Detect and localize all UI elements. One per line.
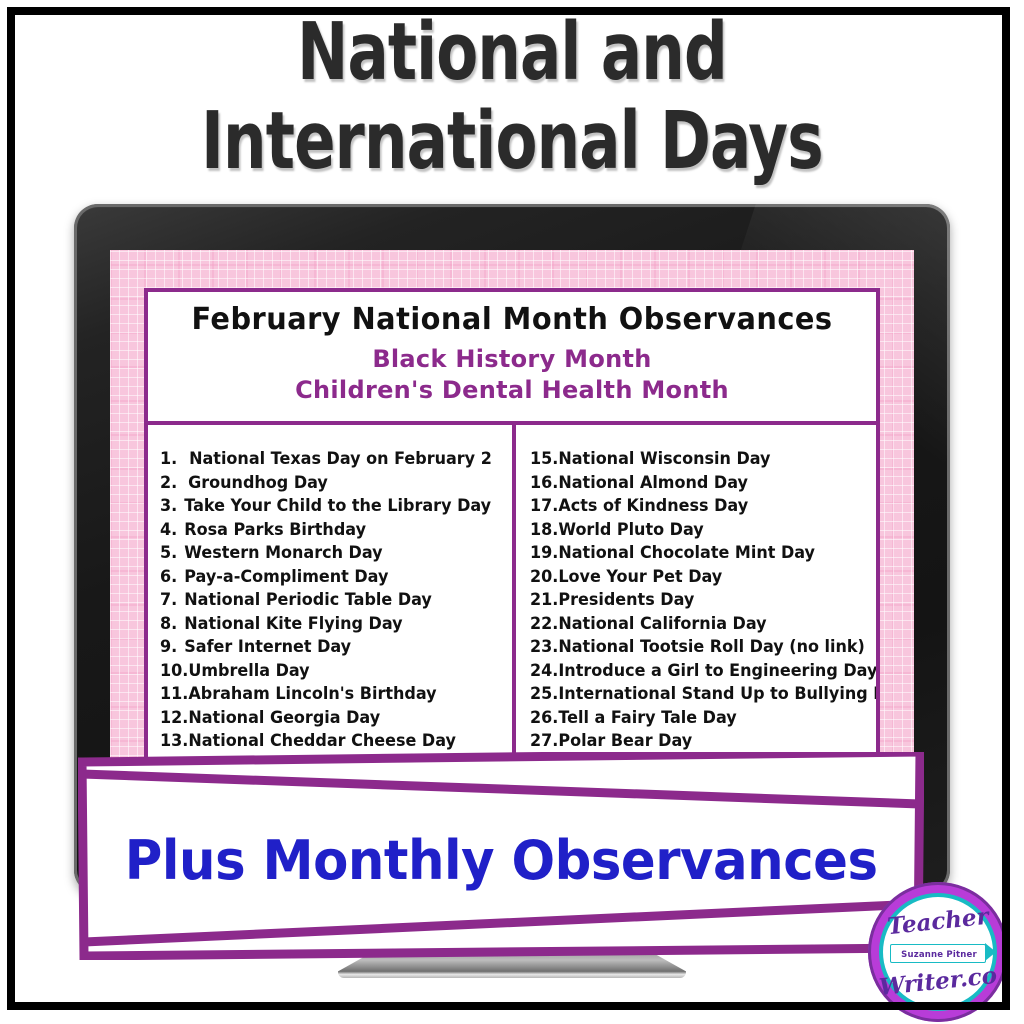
list-item-label: National Georgia Day xyxy=(188,708,380,727)
list-item-label: National Almond Day xyxy=(558,473,748,492)
poster-canvas: National and International Days February… xyxy=(0,0,1024,1024)
list-item-label: National Texas Day on February 2 xyxy=(189,449,492,468)
list-item-label: Groundhog Day xyxy=(188,473,328,492)
month-observance-2: Children's Dental Health Month xyxy=(148,376,876,404)
list-item-label: National Tootsie Roll Day (no link) xyxy=(558,637,865,656)
observance-list-right: 15.National Wisconsin Day16.National Alm… xyxy=(512,425,880,793)
list-item-label: Safer Internet Day xyxy=(184,637,351,656)
banner-label: Plus Monthly Observances xyxy=(125,829,878,892)
list-item-label: International Stand Up to Bullying Day xyxy=(558,684,880,703)
list-item-number: 20. xyxy=(530,565,558,589)
title-line-2: International Days xyxy=(106,103,918,180)
list-item-label: Tell a Fairy Tale Day xyxy=(558,708,736,727)
list-item-number: 3. xyxy=(160,494,184,518)
list-item: 2.Groundhog Day xyxy=(160,471,501,495)
list-item-label: Presidents Day xyxy=(558,590,694,609)
list-item: 8.National Kite Flying Day xyxy=(160,612,501,636)
list-item-number: 23. xyxy=(530,635,558,659)
list-item-number: 4. xyxy=(160,518,184,542)
list-item-number: 12. xyxy=(160,706,188,730)
list-item-number: 7. xyxy=(160,588,184,612)
list-item: 20.Love Your Pet Day xyxy=(530,565,880,589)
list-item-label: World Pluto Day xyxy=(558,520,703,539)
list-item-label: National Periodic Table Day xyxy=(184,590,432,609)
list-item-number: 27. xyxy=(530,729,558,753)
list-item-number: 1. xyxy=(160,447,189,471)
list-item-number: 2. xyxy=(160,471,188,495)
list-item-number: 22. xyxy=(530,612,558,636)
list-item: 10.Umbrella Day xyxy=(160,659,501,683)
list-item-number: 11. xyxy=(160,682,188,706)
list-item: 1.National Texas Day on February 2 xyxy=(160,447,501,471)
list-item-number: 25. xyxy=(530,682,558,706)
list-item-label: Acts of Kindness Day xyxy=(558,496,748,515)
list-item: 21.Presidents Day xyxy=(530,588,880,612)
list-item: 13.National Cheddar Cheese Day xyxy=(160,729,501,753)
slide-header: February National Month Observances Blac… xyxy=(148,292,876,425)
list-item: 25.International Stand Up to Bullying Da… xyxy=(530,682,880,706)
list-item: 24.Introduce a Girl to Engineering Day xyxy=(530,659,880,683)
list-item-label: Love Your Pet Day xyxy=(558,567,722,586)
list-item: 4.Rosa Parks Birthday xyxy=(160,518,501,542)
monitor-screen: February National Month Observances Blac… xyxy=(110,250,914,810)
pencil-icon: Suzanne Pitner xyxy=(890,944,986,963)
list-item-label: National Cheddar Cheese Day xyxy=(188,731,456,750)
list-item-label: National California Day xyxy=(558,614,766,633)
observance-list-left: 1.National Texas Day on February 22.Grou… xyxy=(148,425,512,793)
list-item: 27.Polar Bear Day xyxy=(530,729,880,753)
list-item-number: 21. xyxy=(530,588,558,612)
list-item-label: Pay-a-Compliment Day xyxy=(184,567,388,586)
slide-document: February National Month Observances Blac… xyxy=(144,288,880,793)
list-item: 16.National Almond Day xyxy=(530,471,880,495)
slide-heading: February National Month Observances xyxy=(163,302,862,337)
list-item-label: Take Your Child to the Library Day xyxy=(184,496,491,515)
list-item-number: 24. xyxy=(530,659,558,683)
list-item: 6.Pay-a-Compliment Day xyxy=(160,565,501,589)
list-item-number: 26. xyxy=(530,706,558,730)
banner-text-wrap: Plus Monthly Observances xyxy=(78,752,924,960)
list-item: 15.National Wisconsin Day xyxy=(530,447,880,471)
list-item: 23.National Tootsie Roll Day (no link) xyxy=(530,635,880,659)
list-item-number: 18. xyxy=(530,518,558,542)
list-item-number: 6. xyxy=(160,565,184,589)
poster-title: National and International Days xyxy=(40,14,984,181)
list-item-number: 10. xyxy=(160,659,188,683)
list-item: 22.National California Day xyxy=(530,612,880,636)
list-item-label: Rosa Parks Birthday xyxy=(184,520,366,539)
list-item-label: Abraham Lincoln's Birthday xyxy=(188,684,436,703)
list-item: 3.Take Your Child to the Library Day xyxy=(160,494,501,518)
list-item: 19.National Chocolate Mint Day xyxy=(530,541,880,565)
banner-callout: Plus Monthly Observances xyxy=(78,752,924,960)
list-item-number: 13. xyxy=(160,729,188,753)
list-item: 5.Western Monarch Day xyxy=(160,541,501,565)
list-item: 26.Tell a Fairy Tale Day xyxy=(530,706,880,730)
list-item-number: 15. xyxy=(530,447,558,471)
list-item-label: National Kite Flying Day xyxy=(184,614,402,633)
slide-body: 1.National Texas Day on February 22.Grou… xyxy=(148,425,876,793)
list-item-label: National Wisconsin Day xyxy=(558,449,770,468)
list-item-number: 17. xyxy=(530,494,558,518)
list-item: 12.National Georgia Day xyxy=(160,706,501,730)
title-line-1: National and xyxy=(106,14,918,91)
list-item-label: Western Monarch Day xyxy=(184,543,382,562)
list-item: 17.Acts of Kindness Day xyxy=(530,494,880,518)
list-item: 11.Abraham Lincoln's Birthday xyxy=(160,682,501,706)
logo-author: Suzanne Pitner xyxy=(891,945,987,964)
list-item-number: 19. xyxy=(530,541,558,565)
list-item: 18.World Pluto Day xyxy=(530,518,880,542)
list-item-label: Polar Bear Day xyxy=(558,731,692,750)
list-item-label: National Chocolate Mint Day xyxy=(558,543,815,562)
list-item-number: 5. xyxy=(160,541,184,565)
list-item: 7.National Periodic Table Day xyxy=(160,588,501,612)
list-item-number: 9. xyxy=(160,635,184,659)
list-item-label: Umbrella Day xyxy=(188,661,309,680)
list-item-number: 16. xyxy=(530,471,558,495)
month-observance-1: Black History Month xyxy=(148,345,876,373)
list-item-label: Introduce a Girl to Engineering Day xyxy=(558,661,877,680)
list-item-number: 8. xyxy=(160,612,184,636)
brand-logo: Teacher Suzanne Pitner Writer.co xyxy=(868,882,1008,1022)
list-item: 9.Safer Internet Day xyxy=(160,635,501,659)
